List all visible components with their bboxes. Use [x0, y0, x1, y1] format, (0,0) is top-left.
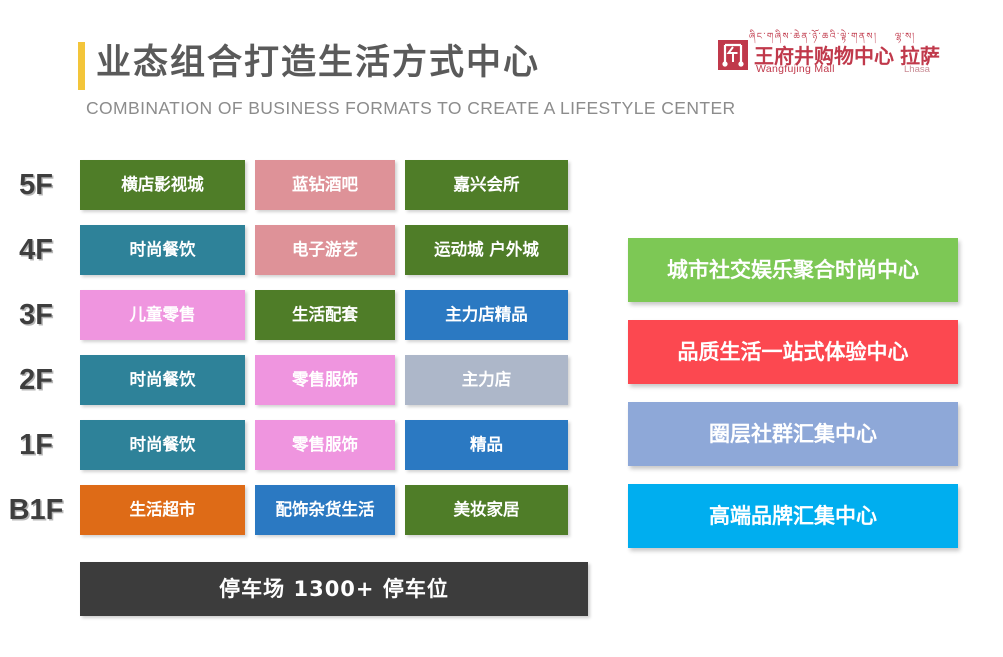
parking-bar: 停车场 1300+ 停车位: [80, 562, 588, 616]
floor-category-cell[interactable]: 时尚餐饮: [80, 225, 245, 275]
floor-category-cell[interactable]: 美妆家居: [405, 485, 568, 535]
page-title: 业态组合打造生活方式中心: [96, 34, 540, 85]
floor-directory-grid: 5F横店影视城蓝钻酒吧嘉兴会所4F时尚餐饮电子游艺运动城 户外城3F儿童零售生活…: [0, 160, 620, 550]
wangfujing-logo-icon: [718, 40, 748, 70]
floor-category-cell[interactable]: 横店影视城: [80, 160, 245, 210]
logo-separator: ·: [884, 43, 890, 64]
title-accent-bar: [78, 42, 85, 90]
floor-row: 4F时尚餐饮电子游艺运动城 户外城: [0, 225, 620, 275]
positioning-callout[interactable]: 圈层社群汇集中心: [628, 402, 958, 466]
floor-category-cell[interactable]: 生活超市: [80, 485, 245, 535]
positioning-callout[interactable]: 城市社交娱乐聚合时尚中心: [628, 238, 958, 302]
floor-category-cell[interactable]: 儿童零售: [80, 290, 245, 340]
positioning-callout[interactable]: 品质生活一站式体验中心: [628, 320, 958, 384]
floor-category-cell[interactable]: 主力店: [405, 355, 568, 405]
floor-category-cell[interactable]: 时尚餐饮: [80, 420, 245, 470]
floor-row: 1F时尚餐饮零售服饰精品: [0, 420, 620, 470]
logo-city-en: Lhasa: [904, 64, 930, 75]
floor-row: 3F儿童零售生活配套主力店精品: [0, 290, 620, 340]
floor-label: 5F: [0, 160, 72, 210]
floor-category-cell[interactable]: 零售服饰: [255, 355, 395, 405]
logo-name-en: Wangfujing Mall: [756, 63, 835, 75]
page-subtitle: COMBINATION OF BUSINESS FORMATS TO CREAT…: [86, 98, 736, 119]
positioning-callout-list: 城市社交娱乐聚合时尚中心品质生活一站式体验中心圈层社群汇集中心高端品牌汇集中心: [628, 238, 958, 566]
floor-category-cell[interactable]: 时尚餐饮: [80, 355, 245, 405]
floor-category-cell[interactable]: 生活配套: [255, 290, 395, 340]
floor-category-cell[interactable]: 运动城 户外城: [405, 225, 568, 275]
floor-row: 5F横店影视城蓝钻酒吧嘉兴会所: [0, 160, 620, 210]
floor-row: B1F生活超市配饰杂货生活美妆家居: [0, 485, 620, 535]
floor-label: 3F: [0, 290, 72, 340]
floor-label: B1F: [0, 485, 72, 535]
floor-category-cell[interactable]: 主力店精品: [405, 290, 568, 340]
floor-label: 2F: [0, 355, 72, 405]
page-header: 业态组合打造生活方式中心 COMBINATION OF BUSINESS FOR…: [0, 0, 1003, 140]
floor-category-cell[interactable]: 零售服饰: [255, 420, 395, 470]
floor-category-cell[interactable]: 嘉兴会所: [405, 160, 568, 210]
floor-label: 4F: [0, 225, 72, 275]
floor-category-cell[interactable]: 配饰杂货生活: [255, 485, 395, 535]
brand-logo: ཞིང་གཞིས་ཆེན་ཉོ་ཆའི་ལྟེ་གནས། ལྷ་ས། 王府井购物…: [712, 27, 942, 82]
floor-label: 1F: [0, 420, 72, 470]
floor-category-cell[interactable]: 电子游艺: [255, 225, 395, 275]
floor-row: 2F时尚餐饮零售服饰主力店: [0, 355, 620, 405]
floor-category-cell[interactable]: 精品: [405, 420, 568, 470]
positioning-callout[interactable]: 高端品牌汇集中心: [628, 484, 958, 548]
floor-category-cell[interactable]: 蓝钻酒吧: [255, 160, 395, 210]
